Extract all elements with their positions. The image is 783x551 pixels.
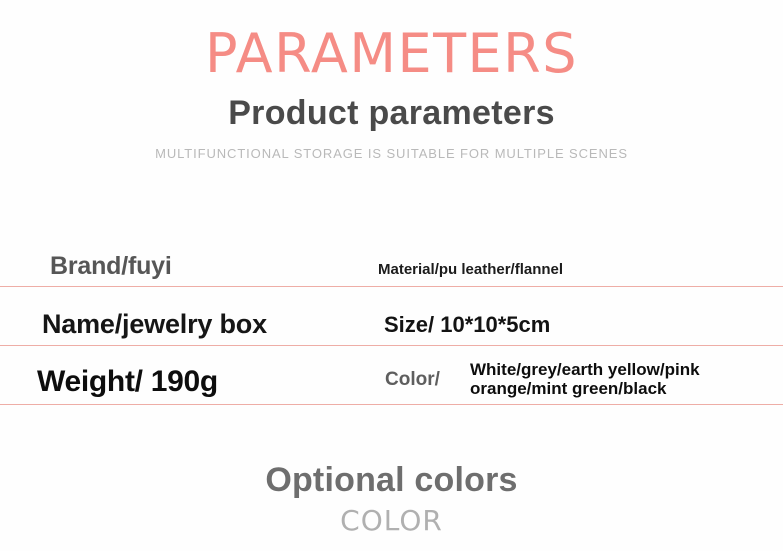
spec-material-label: Material/pu leather/flannel	[378, 261, 563, 278]
page-footer: Optional colors COLOR	[0, 462, 783, 537]
spec-size-label: Size/ 10*10*5cm	[384, 312, 550, 338]
spec-color-values-line2: orange/mint green/black	[470, 379, 700, 399]
page-subtitle: Product parameters	[0, 95, 783, 132]
spec-color-values-line1: White/grey/earth yellow/pink	[470, 360, 700, 380]
page-title: PARAMETERS	[0, 26, 783, 83]
spec-color-label: Color/	[385, 369, 440, 391]
table-row: Brand/fuyi Material/pu leather/flannel	[0, 228, 783, 287]
page-tagline: MULTIFUNCTIONAL STORAGE IS SUITABLE FOR …	[0, 146, 783, 161]
spec-name-label: Name/jewelry box	[42, 309, 267, 340]
spec-table: Brand/fuyi Material/pu leather/flannel N…	[0, 228, 783, 405]
footer-subtitle: COLOR	[0, 504, 783, 537]
spec-color-values: White/grey/earth yellow/pink orange/mint…	[470, 360, 700, 399]
spec-brand-label: Brand/fuyi	[50, 252, 172, 281]
page-header: PARAMETERS Product parameters MULTIFUNCT…	[0, 0, 783, 161]
table-row: Weight/ 190g Color/ White/grey/earth yel…	[0, 346, 783, 405]
table-row: Name/jewelry box Size/ 10*10*5cm	[0, 287, 783, 346]
row-divider	[0, 404, 783, 405]
spec-weight-label: Weight/ 190g	[37, 365, 218, 399]
footer-title: Optional colors	[0, 462, 783, 499]
